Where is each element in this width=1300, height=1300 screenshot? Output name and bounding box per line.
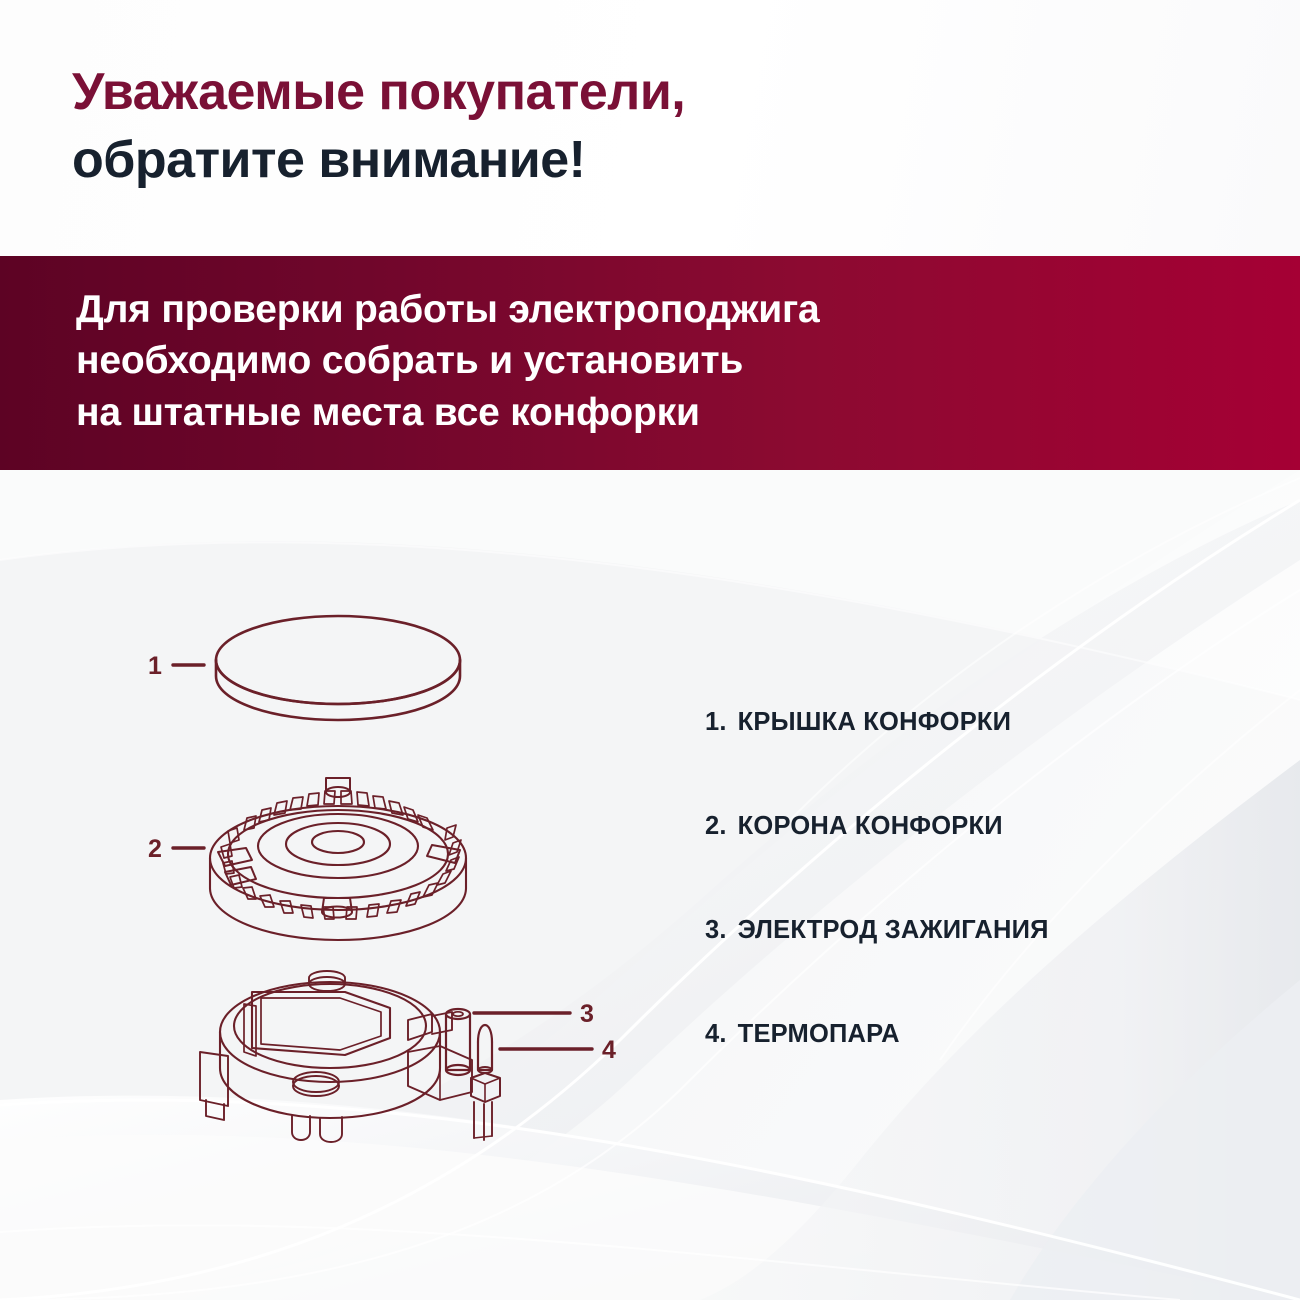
- legend-number-1: 1.: [705, 708, 727, 737]
- notice-banner: Для проверки работы электроподжига необх…: [0, 256, 1300, 470]
- parts-legend: 1. КРЫШКА КОНФОРКИ 2. КОРОНА КОНФОРКИ 3.…: [705, 670, 1225, 1086]
- legend-label-1: КРЫШКА КОНФОРКИ: [738, 708, 1012, 737]
- header-band: Уважаемые покупатели, обратите внимание!: [0, 0, 1300, 256]
- legend-label-3: ЭЛЕКТРОД ЗАЖИГАНИЯ: [738, 916, 1049, 945]
- callout-number-2: 2: [148, 835, 162, 863]
- callout-number-3: 3: [580, 1000, 594, 1028]
- legend-item-4: 4. ТЕРМОПАРА: [705, 982, 1225, 1086]
- legend-number-2: 2.: [705, 812, 727, 841]
- page-title-line-2: обратите внимание!: [72, 134, 685, 186]
- burner-crown-drawing: [210, 778, 466, 940]
- notice-line-3: на штатные места все конфорки: [76, 387, 820, 438]
- legend-number-4: 4.: [705, 1020, 727, 1049]
- ignition-electrode-drawing: [446, 1009, 470, 1075]
- legend-label-4: ТЕРМОПАРА: [738, 1020, 900, 1049]
- burner-base-drawing: [200, 971, 500, 1142]
- callout-number-4: 4: [602, 1036, 616, 1064]
- legend-item-3: 3. ЭЛЕКТРОД ЗАЖИГАНИЯ: [705, 878, 1225, 982]
- legend-item-2: 2. КОРОНА КОНФОРКИ: [705, 774, 1225, 878]
- legend-item-1: 1. КРЫШКА КОНФОРКИ: [705, 670, 1225, 774]
- notice-banner-text: Для проверки работы электроподжига необх…: [76, 284, 820, 438]
- burner-cap-drawing: [216, 616, 460, 720]
- legend-number-3: 3.: [705, 916, 727, 945]
- notice-line-2: необходимо собрать и установить: [76, 335, 820, 386]
- page-title-line-1: Уважаемые покупатели,: [72, 66, 685, 118]
- callout-number-1: 1: [148, 652, 162, 680]
- burner-exploded-diagram: 1 2 3 4: [140, 600, 620, 1160]
- page-title: Уважаемые покупатели, обратите внимание!: [72, 66, 685, 186]
- legend-label-2: КОРОНА КОНФОРКИ: [738, 812, 1003, 841]
- thermocouple-drawing: [471, 1025, 500, 1140]
- content-area: 1 2 3 4 1. КРЫШКА КОНФОРКИ 2. КОРОНА КОН…: [0, 470, 1300, 1300]
- notice-line-1: Для проверки работы электроподжига: [76, 284, 820, 335]
- infographic-page: Уважаемые покупатели, обратите внимание!…: [0, 0, 1300, 1300]
